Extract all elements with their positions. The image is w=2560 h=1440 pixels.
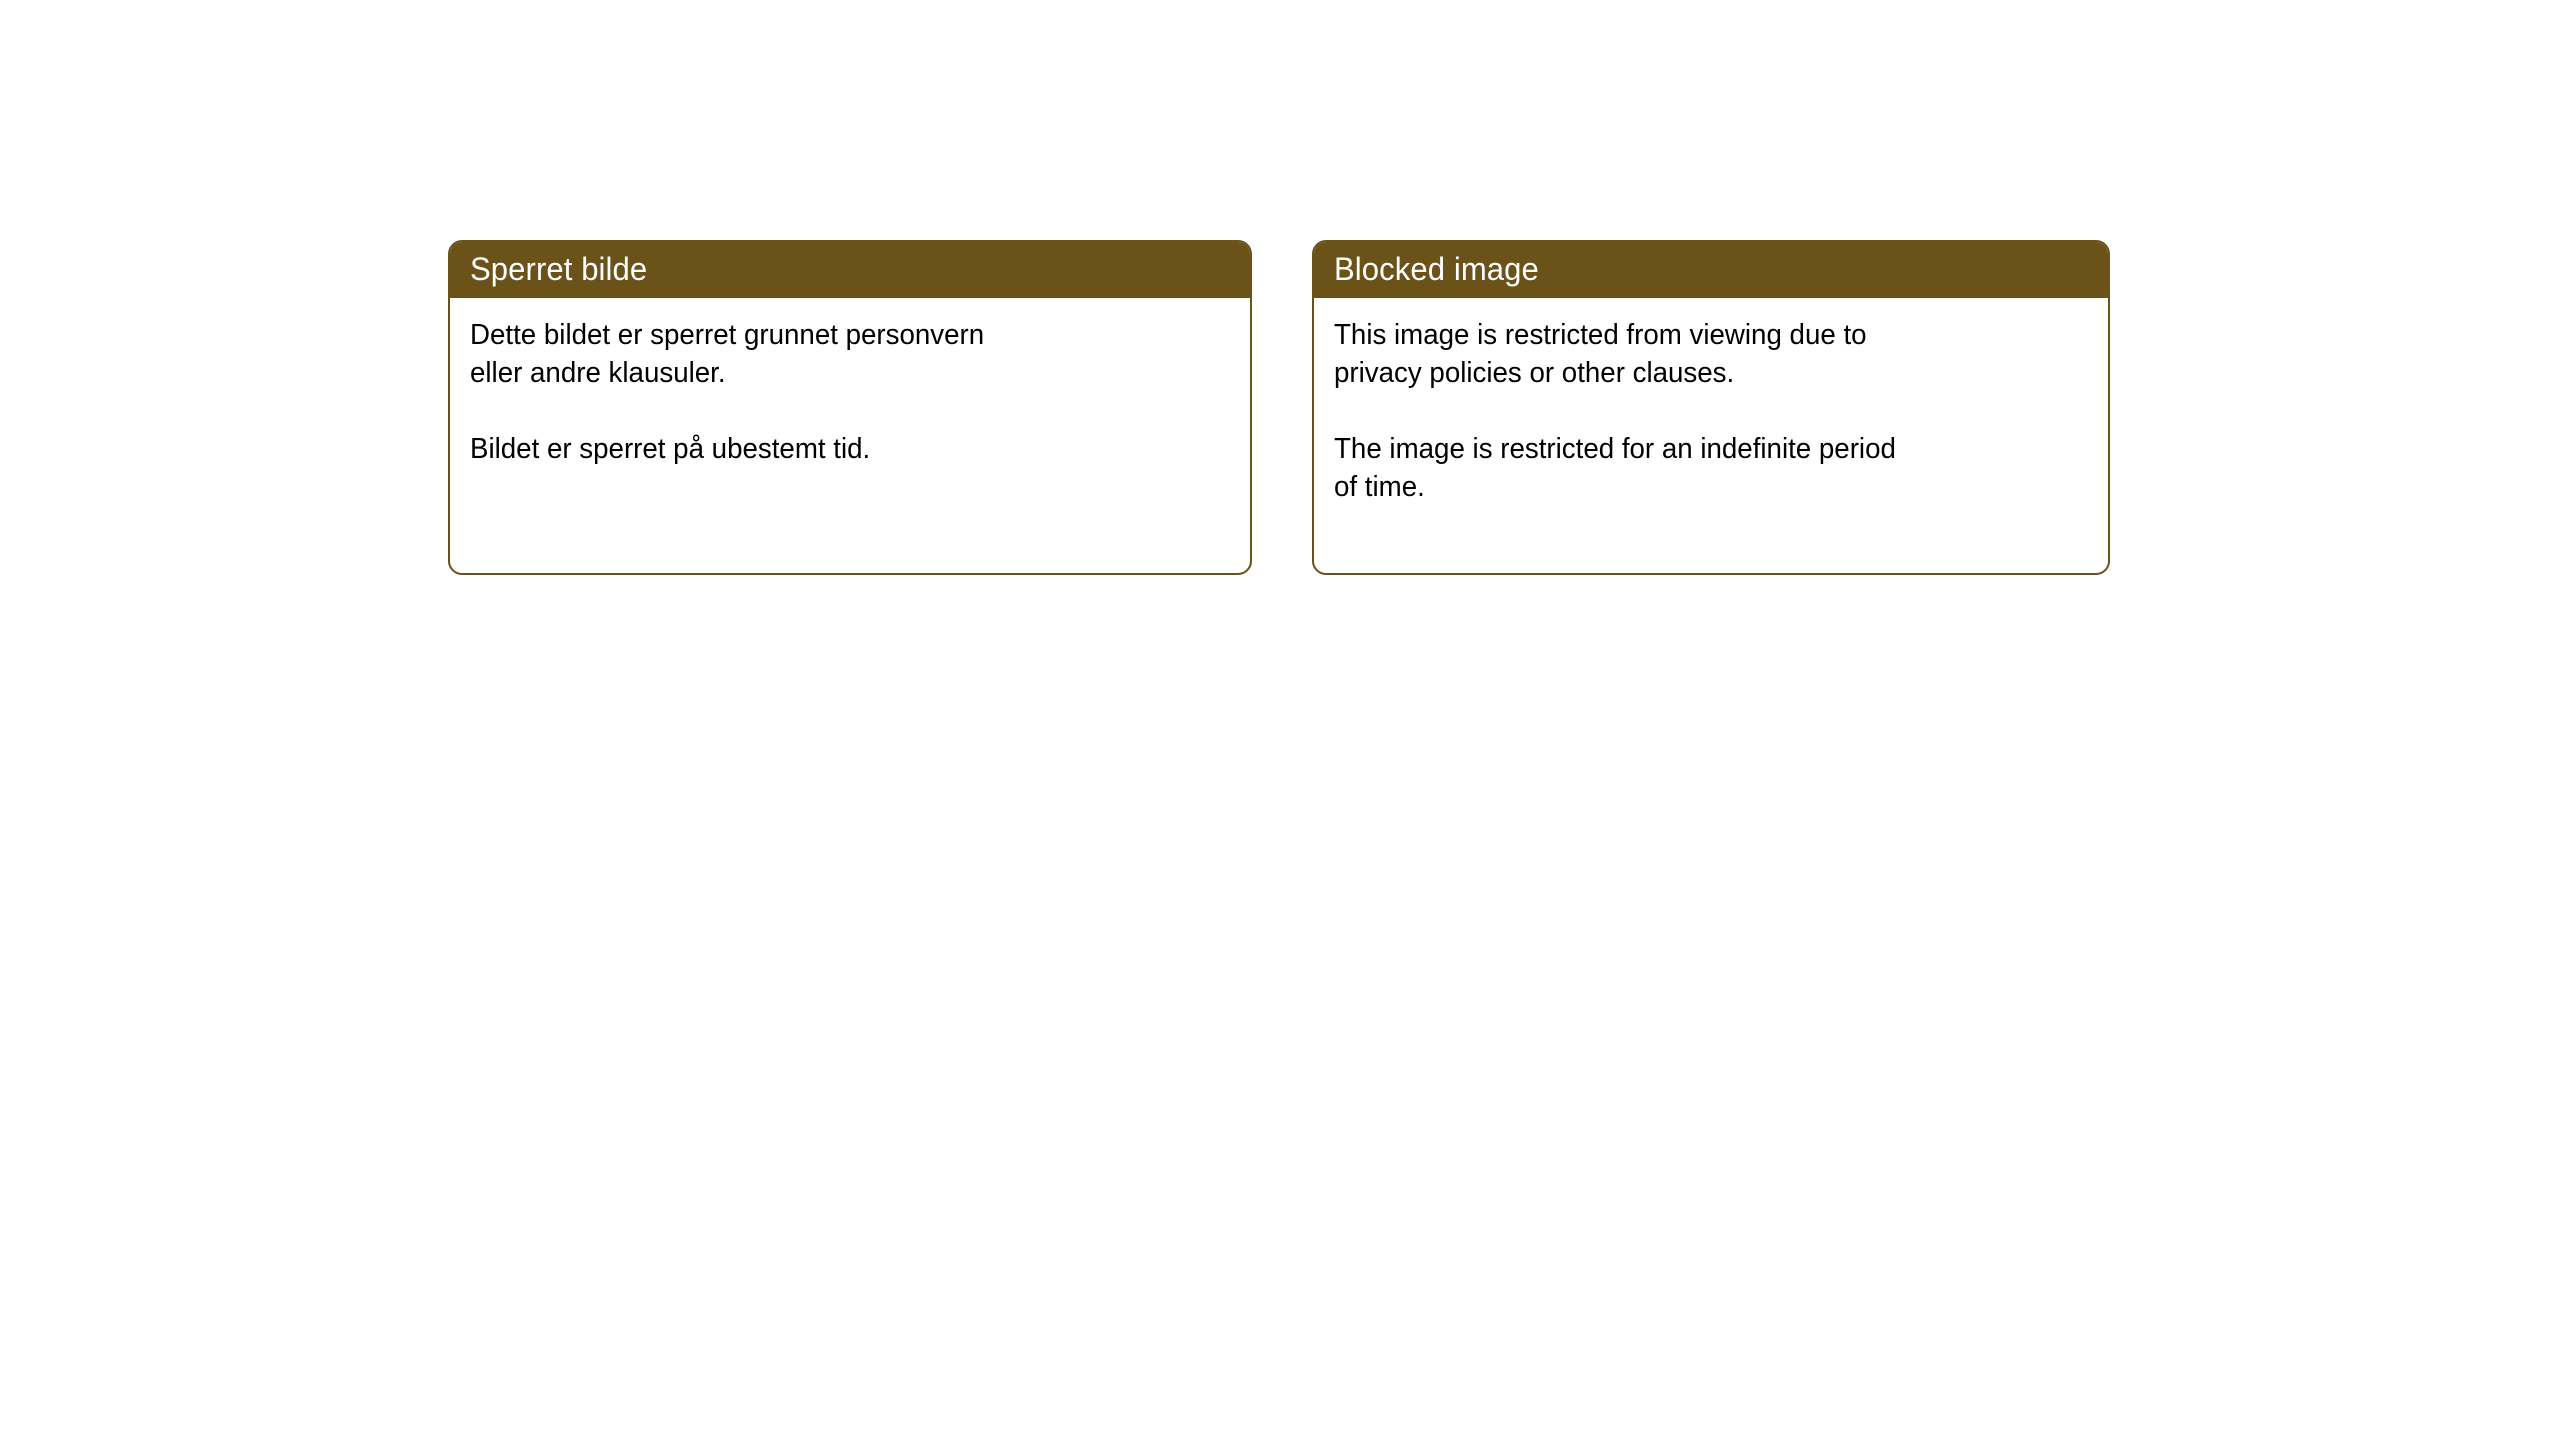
page-canvas: Sperret bilde Dette bildet er sperret gr… [0, 0, 2560, 1440]
blocked-image-card-english: Blocked image This image is restricted f… [1312, 240, 2110, 575]
card-header-english: Blocked image [1312, 240, 2110, 298]
card-paragraph-reason-norwegian: Dette bildet er sperret grunnet personve… [470, 316, 1196, 392]
card-paragraph-reason-english: This image is restricted from viewing du… [1334, 316, 2054, 392]
card-paragraph-duration-english: The image is restricted for an indefinit… [1334, 430, 2054, 506]
card-header-norwegian: Sperret bilde [448, 240, 1252, 298]
card-title-english: Blocked image [1334, 252, 1539, 286]
card-title-norwegian: Sperret bilde [470, 252, 647, 286]
card-body-norwegian: Dette bildet er sperret grunnet personve… [450, 298, 1250, 468]
blocked-image-card-norwegian: Sperret bilde Dette bildet er sperret gr… [448, 240, 1252, 575]
card-body-english: This image is restricted from viewing du… [1314, 298, 2108, 506]
card-paragraph-duration-norwegian: Bildet er sperret på ubestemt tid. [470, 430, 1196, 468]
